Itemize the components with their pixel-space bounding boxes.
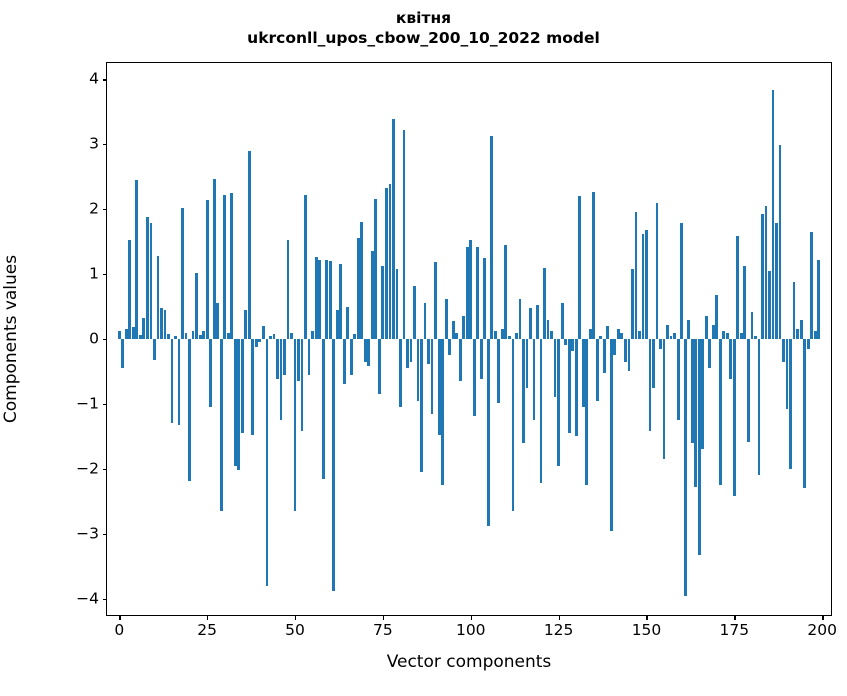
bar xyxy=(722,331,725,339)
bar xyxy=(434,262,437,339)
bar xyxy=(476,247,479,339)
bar xyxy=(536,305,539,339)
bar xyxy=(596,339,599,401)
y-tick-label: 4 xyxy=(89,71,99,87)
x-tick-label: 100 xyxy=(456,623,486,639)
x-axis-label: Vector components xyxy=(106,652,832,672)
bar xyxy=(350,339,353,375)
bar xyxy=(624,339,627,362)
y-tick-label: 2 xyxy=(89,201,99,217)
bar xyxy=(220,339,223,511)
bar xyxy=(273,334,276,339)
bar xyxy=(550,331,553,339)
x-tick-label: 75 xyxy=(373,623,393,639)
bar xyxy=(128,240,131,339)
bar xyxy=(287,240,290,339)
bar xyxy=(561,303,564,339)
bar xyxy=(708,339,711,368)
bar xyxy=(687,320,690,339)
bar xyxy=(202,331,205,339)
bar xyxy=(469,240,472,339)
bar xyxy=(483,258,486,339)
bar xyxy=(473,339,476,416)
y-tick-label: −2 xyxy=(76,461,99,477)
bar xyxy=(803,339,806,488)
x-tick-mark xyxy=(734,615,735,620)
bar xyxy=(424,303,427,339)
bar xyxy=(726,333,729,339)
bar xyxy=(772,90,775,339)
bar xyxy=(487,339,490,526)
bar xyxy=(677,339,680,420)
bar xyxy=(599,336,602,339)
bar xyxy=(673,333,676,339)
x-tick-mark xyxy=(119,615,120,620)
bar xyxy=(701,339,704,449)
bar xyxy=(522,339,525,443)
bar xyxy=(420,339,423,472)
bar xyxy=(789,339,792,469)
bar xyxy=(645,230,648,339)
bar xyxy=(620,333,623,339)
bar xyxy=(410,339,413,362)
bar xyxy=(751,312,754,339)
bar xyxy=(747,339,750,442)
bar xyxy=(223,195,226,339)
bar xyxy=(389,184,392,339)
x-tick-label: 175 xyxy=(720,623,750,639)
bar xyxy=(188,339,191,481)
x-tick-mark xyxy=(471,615,472,620)
bar xyxy=(139,335,142,339)
bar xyxy=(392,119,395,339)
bar xyxy=(374,199,377,339)
bar xyxy=(290,333,293,339)
bar xyxy=(663,339,666,459)
bar xyxy=(262,326,265,339)
chart-title-line-2: ukrconll_upos_cbow_200_10_2022 model xyxy=(0,28,847,48)
y-tick-label: −4 xyxy=(76,591,99,607)
bar xyxy=(153,339,156,360)
y-tick-mark xyxy=(103,339,108,340)
bar xyxy=(230,193,233,339)
bar xyxy=(237,339,240,470)
bar xyxy=(631,269,634,339)
y-axis-label-text: Components values xyxy=(0,62,22,616)
x-tick-mark xyxy=(295,615,296,620)
bar xyxy=(497,339,500,403)
bar xyxy=(209,339,212,407)
bar xyxy=(125,329,128,339)
bar xyxy=(659,339,662,349)
y-tick-label: 0 xyxy=(89,331,99,347)
bar xyxy=(244,310,247,339)
x-tick-mark xyxy=(383,615,384,620)
bar xyxy=(258,339,261,342)
bar xyxy=(251,339,254,435)
bar xyxy=(445,299,448,339)
bar xyxy=(234,339,237,466)
bar xyxy=(431,339,434,414)
bar xyxy=(118,331,121,339)
bar xyxy=(547,320,550,339)
bar xyxy=(807,339,810,349)
bar xyxy=(280,339,283,420)
x-tick-label: 50 xyxy=(285,623,305,639)
bar xyxy=(276,339,279,379)
y-tick-mark xyxy=(103,404,108,405)
bar xyxy=(381,266,384,339)
bar xyxy=(564,339,567,345)
bar xyxy=(399,339,402,407)
bar xyxy=(691,339,694,443)
x-tick-mark xyxy=(822,615,823,620)
bar xyxy=(297,339,300,381)
y-axis-label: Components values xyxy=(0,62,22,616)
bar xyxy=(719,339,722,485)
x-tick-label: 25 xyxy=(197,623,217,639)
bar xyxy=(459,339,462,381)
bar xyxy=(656,203,659,339)
bar xyxy=(455,333,458,339)
bar xyxy=(705,316,708,339)
y-tick-mark xyxy=(103,274,108,275)
y-tick-mark xyxy=(103,599,108,600)
bar xyxy=(638,331,641,339)
x-tick-label: 150 xyxy=(632,623,662,639)
y-tick-mark xyxy=(103,144,108,145)
x-tick-label: 0 xyxy=(114,623,124,639)
bar xyxy=(519,299,522,339)
bar xyxy=(715,295,718,339)
bar xyxy=(578,196,581,339)
bar xyxy=(413,286,416,339)
bar xyxy=(132,327,135,339)
bar xyxy=(603,339,606,373)
bar xyxy=(441,339,444,485)
bar xyxy=(617,329,620,339)
bar xyxy=(793,282,796,339)
bar xyxy=(508,336,511,339)
bar xyxy=(160,308,163,339)
bar xyxy=(557,339,560,466)
bar xyxy=(765,206,768,339)
bar xyxy=(192,331,195,339)
bar xyxy=(364,339,367,362)
y-tick-label: −3 xyxy=(76,526,99,542)
x-tick-label: 125 xyxy=(544,623,574,639)
chart-title: квітня ukrconll_upos_cbow_200_10_2022 mo… xyxy=(0,8,847,48)
bar xyxy=(628,339,631,371)
bar xyxy=(135,180,138,339)
figure-canvas: квітня ukrconll_upos_cbow_200_10_2022 mo… xyxy=(0,0,847,696)
bar xyxy=(684,339,687,596)
bar xyxy=(782,339,785,362)
bar xyxy=(367,339,370,366)
bar xyxy=(512,339,515,511)
bar xyxy=(571,339,574,351)
bar xyxy=(698,339,701,555)
bar xyxy=(466,247,469,339)
bar xyxy=(775,223,778,339)
bar xyxy=(568,339,571,433)
x-tick-label: 200 xyxy=(807,623,837,639)
bar xyxy=(768,271,771,339)
bar xyxy=(164,310,167,339)
bar xyxy=(817,260,820,339)
bar xyxy=(325,260,328,339)
bar xyxy=(649,339,652,431)
chart-title-line-1: квітня xyxy=(0,8,847,28)
bar xyxy=(269,336,272,339)
bar xyxy=(294,339,297,511)
bar xyxy=(346,307,349,339)
bar xyxy=(339,264,342,339)
bar xyxy=(181,208,184,339)
bar xyxy=(740,333,743,339)
bar xyxy=(185,333,188,339)
bar xyxy=(448,339,451,355)
bar xyxy=(529,308,532,339)
bar xyxy=(336,310,339,339)
bar xyxy=(360,222,363,339)
bar xyxy=(357,238,360,339)
bar xyxy=(743,266,746,339)
bar xyxy=(308,339,311,375)
y-tick-mark xyxy=(103,469,108,470)
bar xyxy=(438,339,441,435)
bar xyxy=(206,200,209,339)
bar xyxy=(582,339,585,407)
bar xyxy=(241,339,244,433)
bar xyxy=(332,339,335,591)
bar xyxy=(515,333,518,339)
bar xyxy=(174,336,177,339)
bar xyxy=(754,336,757,339)
bar xyxy=(318,260,321,339)
bar xyxy=(589,329,592,339)
x-tick-mark xyxy=(559,615,560,620)
bar xyxy=(322,339,325,479)
bar xyxy=(761,214,764,339)
y-tick-label: 3 xyxy=(89,136,99,152)
y-tick-mark xyxy=(103,209,108,210)
bar xyxy=(311,331,314,339)
bar xyxy=(670,336,673,339)
x-tick-mark xyxy=(646,615,647,620)
bar xyxy=(758,339,761,475)
bar xyxy=(652,339,655,388)
bar xyxy=(329,261,332,339)
bar xyxy=(733,339,736,496)
bar xyxy=(396,269,399,339)
bar xyxy=(266,339,269,586)
bar xyxy=(216,303,219,339)
bar xyxy=(121,339,124,368)
bar xyxy=(378,339,381,394)
y-tick-label: 1 xyxy=(89,266,99,282)
bar xyxy=(178,339,181,425)
bar xyxy=(610,339,613,531)
bars-container xyxy=(107,63,831,615)
bar xyxy=(490,136,493,339)
bar xyxy=(171,339,174,423)
bar xyxy=(427,339,430,364)
bar xyxy=(195,273,198,339)
bar xyxy=(680,223,683,339)
bar xyxy=(592,192,595,339)
bar xyxy=(142,318,145,339)
bar xyxy=(227,333,230,339)
bar xyxy=(213,179,216,339)
bar xyxy=(494,331,497,339)
bar xyxy=(315,257,318,339)
bar xyxy=(554,339,557,397)
bar xyxy=(540,339,543,483)
bar xyxy=(613,339,616,355)
plot-axes: −4−3−2−1012340255075100125150175200 xyxy=(106,62,832,616)
bar xyxy=(814,331,817,339)
bar xyxy=(462,316,465,339)
bar xyxy=(248,151,251,339)
bar xyxy=(406,339,409,368)
bar xyxy=(504,245,507,339)
bar xyxy=(304,195,307,339)
bar xyxy=(635,212,638,339)
bar xyxy=(533,339,536,420)
bar xyxy=(736,236,739,339)
bar xyxy=(501,329,504,339)
y-tick-mark xyxy=(103,79,108,80)
bar xyxy=(353,334,356,339)
bar xyxy=(729,339,732,379)
y-tick-label: −1 xyxy=(76,396,99,412)
bar xyxy=(606,326,609,339)
bar xyxy=(642,234,645,339)
bar xyxy=(385,188,388,339)
bar xyxy=(694,339,697,487)
bar xyxy=(796,329,799,339)
bar xyxy=(800,320,803,339)
bar xyxy=(301,339,304,431)
bar xyxy=(712,325,715,339)
bar xyxy=(779,145,782,339)
bar xyxy=(666,325,669,339)
bar xyxy=(786,339,789,409)
bar xyxy=(417,339,420,401)
bar xyxy=(255,339,258,347)
y-tick-mark xyxy=(103,534,108,535)
bar xyxy=(283,339,286,375)
bar xyxy=(371,251,374,339)
bar xyxy=(575,339,578,436)
bar xyxy=(810,232,813,339)
bar xyxy=(343,339,346,384)
bar xyxy=(146,217,149,339)
bar xyxy=(199,335,202,339)
bar xyxy=(452,321,455,339)
bar xyxy=(167,334,170,339)
bar xyxy=(480,339,483,379)
bar xyxy=(585,339,588,485)
bar xyxy=(526,339,529,388)
bar xyxy=(150,223,153,339)
bar xyxy=(403,130,406,339)
x-tick-mark xyxy=(207,615,208,620)
bar xyxy=(157,256,160,339)
bar xyxy=(543,268,546,339)
